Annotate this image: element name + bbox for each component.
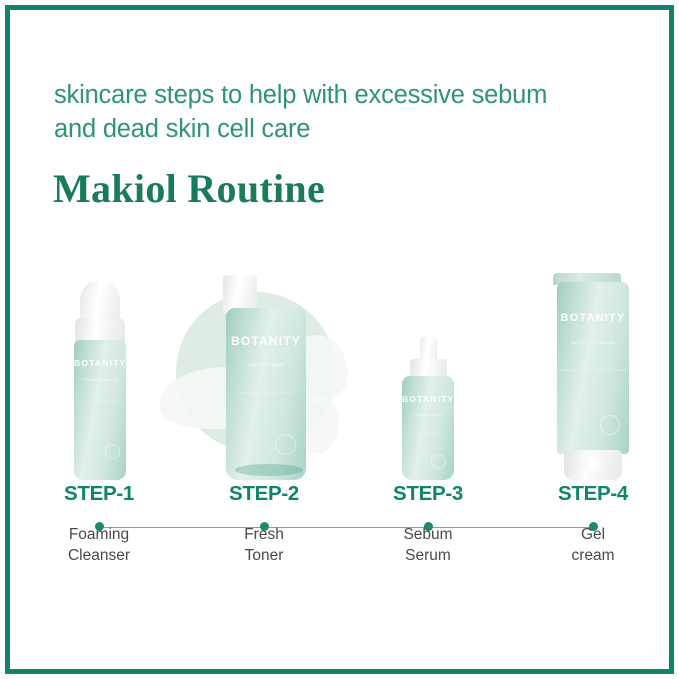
product-name-label: FRESH TONER <box>226 363 306 370</box>
product-name-label: WATER GEL CREAM <box>557 340 629 347</box>
product-foaming-cleanser: BOTANITY FOAMING CLEANSER for oily skin … <box>67 280 133 480</box>
step-label-1: STEP-1 <box>24 482 174 506</box>
product-seal-icon <box>600 415 620 435</box>
product-name-label: SEBUM SERUM <box>402 413 454 418</box>
step-name-2: Fresh Toner <box>189 524 339 566</box>
step-label-2: STEP-2 <box>189 482 339 506</box>
tube-flip-cap <box>564 450 622 480</box>
poster-inner: skincare steps to help with excessive se… <box>10 10 669 669</box>
product-brand-label: BOTANITY <box>226 334 306 348</box>
poster-frame: skincare steps to help with excessive se… <box>5 5 674 674</box>
product-detail-label: pore care ampoule <box>402 432 454 437</box>
toner-bottle-body: BOTANITY FRESH TONER hydrating toner seb… <box>226 308 306 480</box>
tube-body: BOTANITY WATER GEL CREAM moisturizing ge… <box>557 282 629 454</box>
product-detail-label: hydrating toner sebum balance <box>226 390 306 396</box>
step-item-3: STEP-3 Sebum Serum <box>353 482 503 566</box>
product-brand-label: BOTANITY <box>557 312 629 324</box>
page-title: Makiol Routine <box>53 165 325 212</box>
pump-dome <box>80 280 120 322</box>
product-seal-icon <box>275 434 296 455</box>
step-name-3: Sebum Serum <box>353 524 503 566</box>
cleanser-bottle-body: BOTANITY FOAMING CLEANSER for oily skin … <box>74 340 126 480</box>
product-detail-label: moisturizing gel cream fresh finish soot… <box>557 368 629 373</box>
step-name-4: Gel cream <box>518 524 668 566</box>
subheading: skincare steps to help with excessive se… <box>54 78 574 146</box>
steps-timeline: STEP-1 Foaming Cleanser STEP-2 Fresh Ton… <box>10 482 669 602</box>
product-sebum-serum: BOTANITY SEBUM SERUM pore care ampoule <box>396 337 460 480</box>
product-stage: BOTANITY FOAMING CLEANSER for oily skin … <box>10 255 669 480</box>
product-seal-icon <box>431 454 446 469</box>
step-label-3: STEP-3 <box>353 482 503 506</box>
toner-liquid-base <box>235 464 303 476</box>
product-brand-label: BOTANITY <box>74 358 126 368</box>
step-item-4: STEP-4 Gel cream <box>518 482 668 566</box>
serum-bottle-body: BOTANITY SEBUM SERUM pore care ampoule <box>402 376 454 480</box>
step-label-4: STEP-4 <box>518 482 668 506</box>
product-name-label: FOAMING CLEANSER <box>74 378 126 383</box>
product-brand-label: BOTANITY <box>402 394 454 404</box>
product-detail-label: for oily skin sebum care <box>74 400 126 405</box>
step-item-1: STEP-1 Foaming Cleanser <box>24 482 174 566</box>
step-name-1: Foaming Cleanser <box>24 524 174 566</box>
step-item-2: STEP-2 Fresh Toner <box>189 482 339 566</box>
product-fresh-toner: BOTANITY FRESH TONER hydrating toner seb… <box>223 275 309 480</box>
product-gel-cream: BOTANITY WATER GEL CREAM moisturizing ge… <box>553 273 633 480</box>
product-seal-icon <box>105 444 120 459</box>
